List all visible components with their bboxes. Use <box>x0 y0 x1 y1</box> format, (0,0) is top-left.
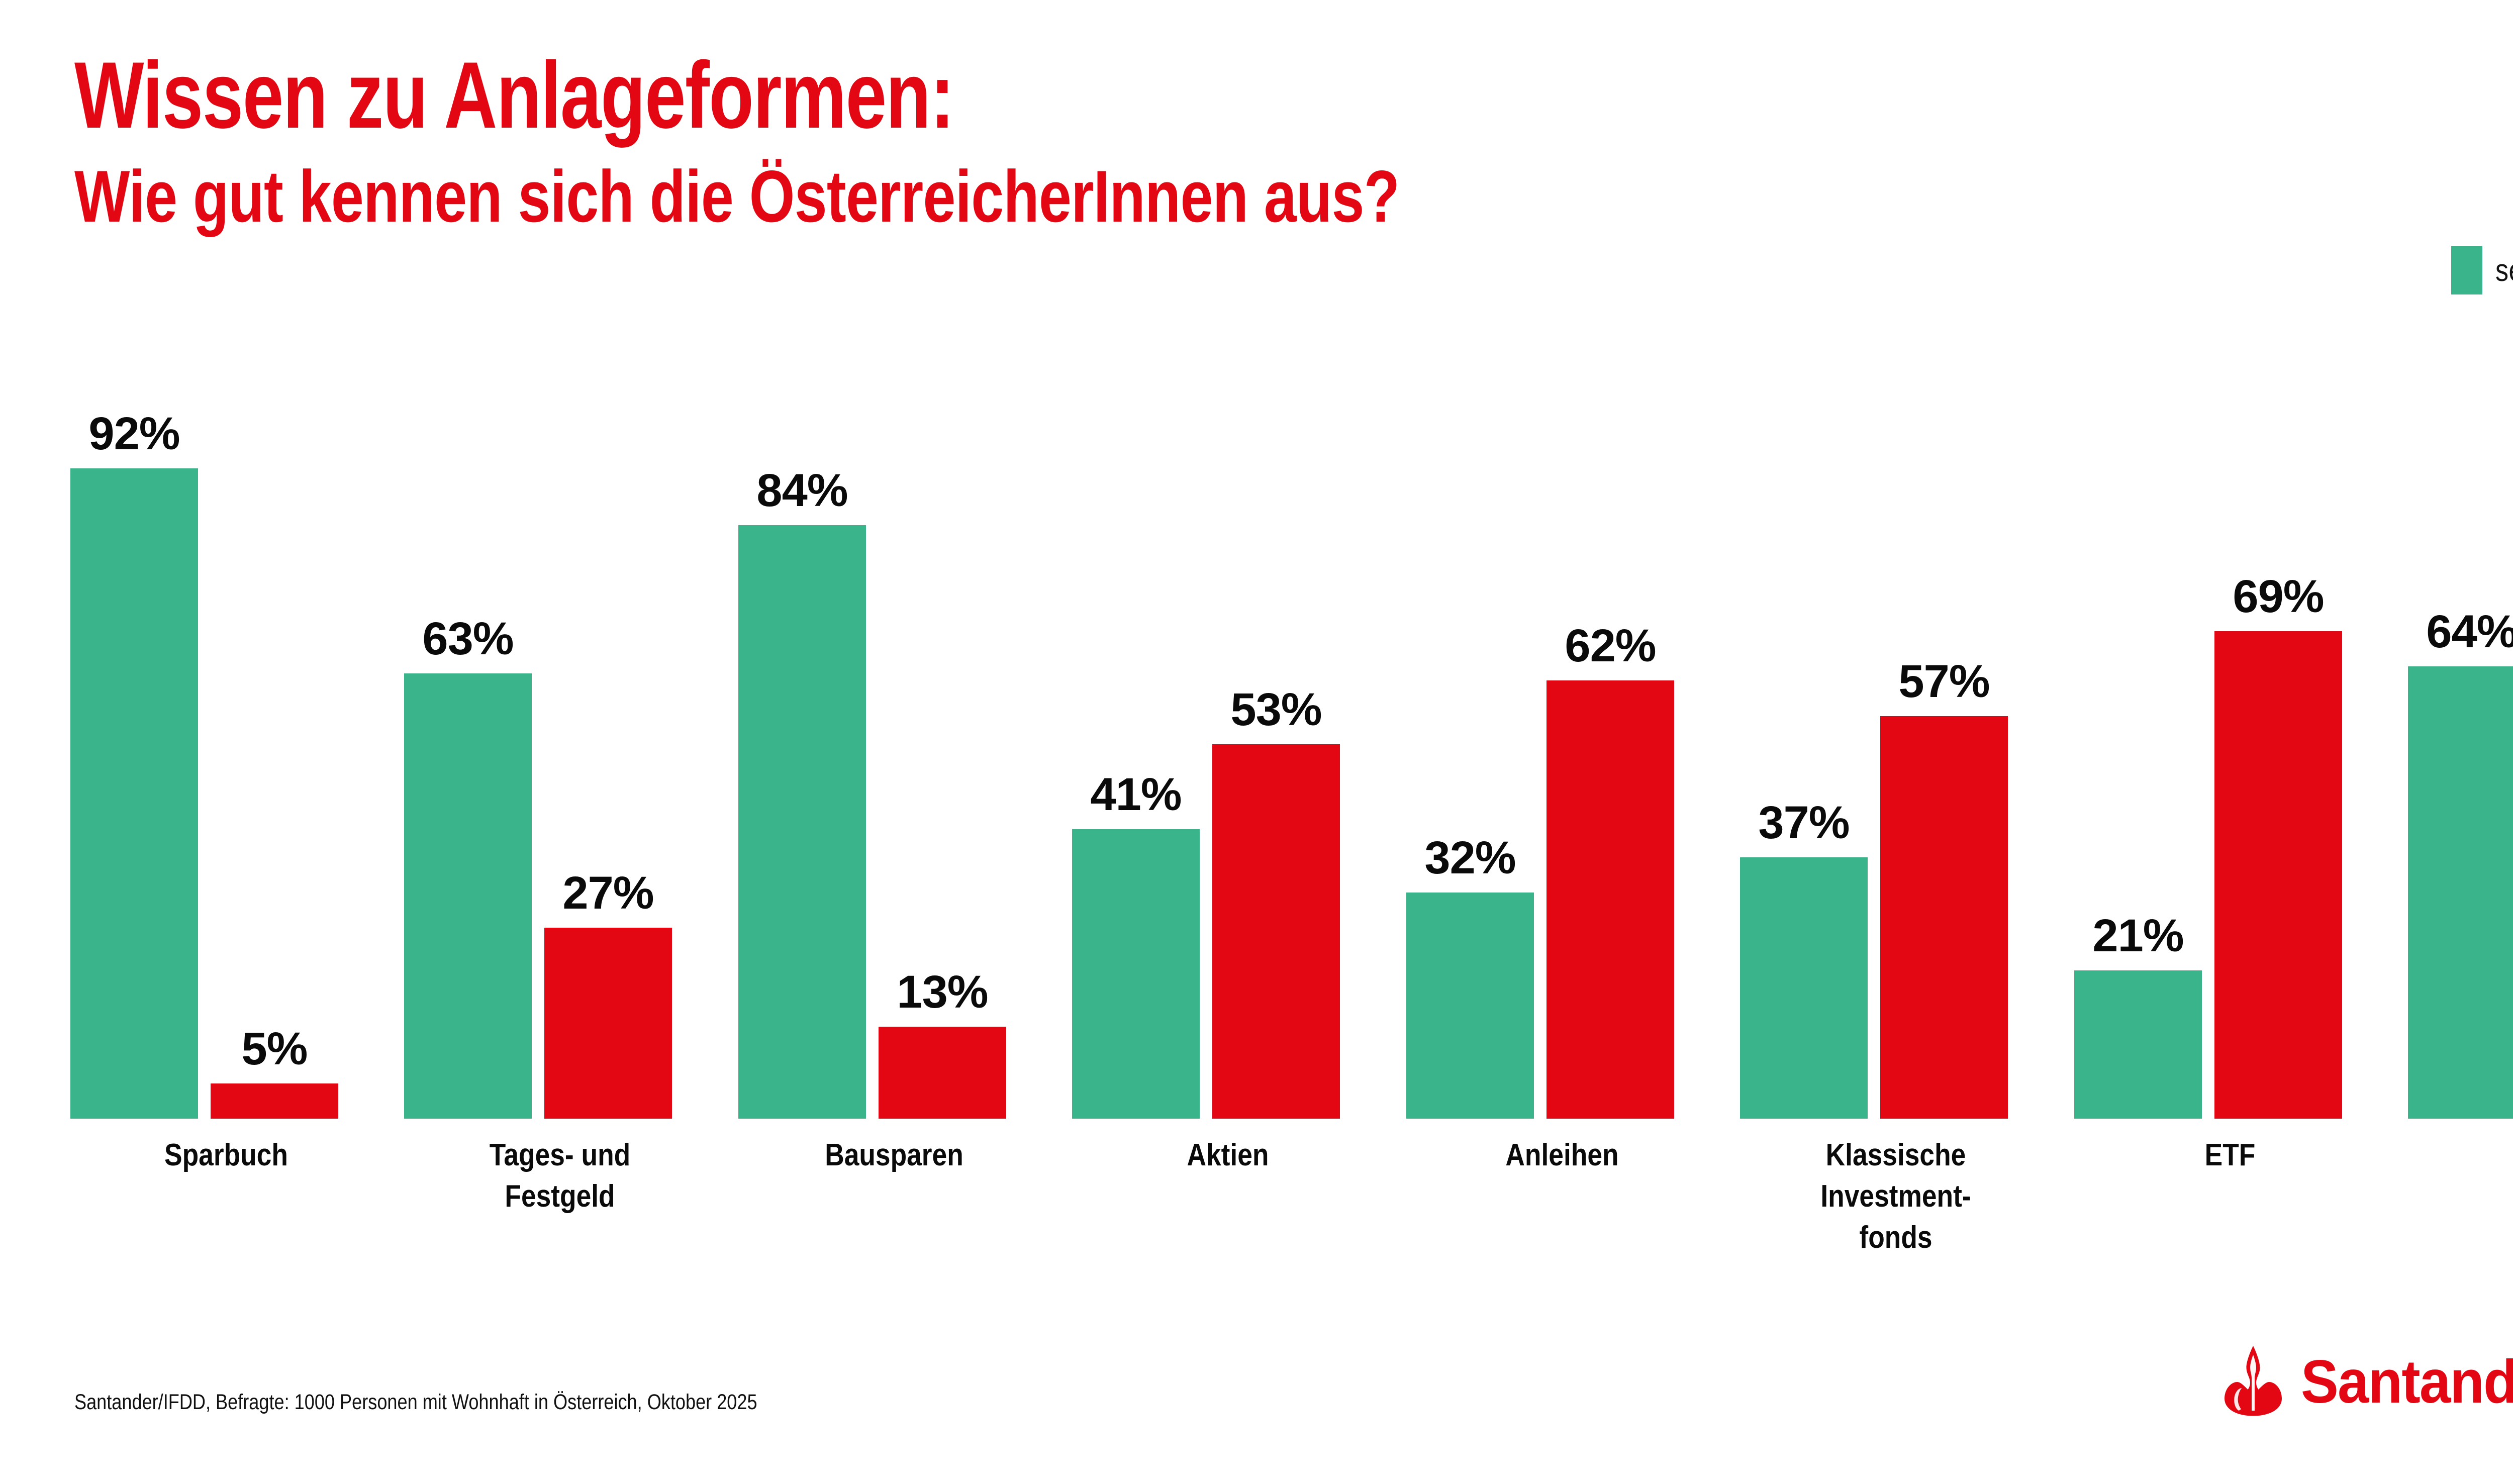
bar-group: 92%5% <box>70 412 382 1119</box>
bar-value-label: 63% <box>422 613 513 665</box>
category-label: Sparbuch <box>70 1135 382 1176</box>
logo-brand-text: Santander <box>2301 1351 2513 1412</box>
chart-plot-area: 92%5%63%27%84%13%41%53%32%62%37%57%21%69… <box>70 412 2513 1119</box>
category-label: KlassischeInvestment-fonds <box>1740 1135 2052 1258</box>
category-label-line: Bausparen <box>760 1135 1028 1176</box>
category-label: Tages- undFestgeld <box>404 1135 716 1217</box>
category-label: ETF <box>2074 1135 2386 1176</box>
bar-value-label: 32% <box>1424 832 1515 884</box>
title-line-secondary: Wie gut kennen sich die ÖsterreicherInne… <box>74 153 1399 240</box>
bar-group: 64%31% <box>2408 412 2513 1119</box>
category-label-line: Gold <box>2430 1135 2513 1176</box>
bar-good[interactable]: 64% <box>2408 666 2513 1119</box>
bar-bad[interactable]: 62% <box>1547 680 1674 1119</box>
category-label-line: fonds <box>1762 1217 2029 1258</box>
bar-bad[interactable]: 57% <box>1880 716 2008 1119</box>
bar-good[interactable]: 41% <box>1072 829 1200 1119</box>
source-footnote: Santander/IFDD, Befragte: 1000 Personen … <box>74 1390 757 1415</box>
category-label: Bausparen <box>738 1135 1050 1176</box>
bar-group: 21%69% <box>2074 412 2386 1119</box>
legend-item-good: sehr gut/gut <box>2451 246 2513 294</box>
chart-header: Wissen zu Anlageformen: Wie gut kennen s… <box>0 0 2513 342</box>
bar-bad[interactable]: 53% <box>1212 744 1340 1119</box>
bar-group: 41%53% <box>1072 412 1384 1119</box>
bar-chart: 92%5%63%27%84%13%41%53%32%62%37%57%21%69… <box>0 412 2513 1156</box>
bar-value-label: 5% <box>242 1023 308 1075</box>
bar-value-label: 69% <box>2233 570 2324 623</box>
category-label: Aktien <box>1072 1135 1384 1176</box>
title-line-primary: Wissen zu Anlageformen: <box>74 44 1366 146</box>
bar-bad[interactable]: 69% <box>2214 631 2342 1119</box>
category-axis: SparbuchTages- undFestgeldBausparenAktie… <box>70 1135 2513 1346</box>
chart-legend: sehr gut/gut weniger gut/gar nicht <box>2451 246 2513 294</box>
bar-value-label: 21% <box>2092 910 2183 962</box>
bar-good[interactable]: 37% <box>1740 857 1868 1119</box>
category-label-line: Klassische <box>1762 1135 2029 1176</box>
bar-value-label: 37% <box>1758 797 1849 849</box>
santander-finanzbarometer-logo: Santander FinanzBarometer <box>2215 1323 2513 1421</box>
bar-value-label: 41% <box>1090 768 1181 821</box>
category-label-line: Anleihen <box>1428 1135 1696 1176</box>
category-label-line: ETF <box>2096 1135 2364 1176</box>
category-label-line: Tages- und <box>426 1135 694 1176</box>
bar-good[interactable]: 32% <box>1406 893 1534 1119</box>
legend-swatch-green-icon <box>2451 246 2482 294</box>
bar-bad[interactable]: 5% <box>211 1083 338 1119</box>
legend-label-good: sehr gut/gut <box>2495 253 2513 288</box>
bar-group: 37%57% <box>1740 412 2052 1119</box>
bar-group: 63%27% <box>404 412 716 1119</box>
category-label-line: Festgeld <box>426 1176 694 1217</box>
page-title: Wissen zu Anlageformen: Wie gut kennen s… <box>74 44 1730 240</box>
category-label: Gold <box>2408 1135 2513 1176</box>
bar-bad[interactable]: 13% <box>879 1027 1006 1119</box>
bar-bad[interactable]: 27% <box>544 928 672 1119</box>
bar-value-label: 62% <box>1565 620 1656 672</box>
bar-value-label: 84% <box>756 464 847 517</box>
category-label: Anleihen <box>1406 1135 1718 1176</box>
bar-group: 84%13% <box>738 412 1050 1119</box>
bar-value-label: 13% <box>897 966 988 1019</box>
bar-good[interactable]: 92% <box>70 468 198 1119</box>
bar-value-label: 64% <box>2426 606 2513 658</box>
bar-good[interactable]: 21% <box>2074 970 2202 1119</box>
category-label-line: Aktien <box>1094 1135 1362 1176</box>
category-label-line: Sparbuch <box>92 1135 360 1176</box>
santander-flame-icon <box>2215 1343 2291 1418</box>
category-label-line: Investment- <box>1762 1176 2029 1217</box>
bar-value-label: 53% <box>1230 683 1321 736</box>
bar-group: 32%62% <box>1406 412 1718 1119</box>
bar-good[interactable]: 84% <box>738 525 866 1119</box>
bar-value-label: 92% <box>88 408 179 460</box>
bar-good[interactable]: 63% <box>404 673 532 1119</box>
bar-value-label: 57% <box>1898 655 1989 708</box>
bar-value-label: 27% <box>562 867 653 920</box>
